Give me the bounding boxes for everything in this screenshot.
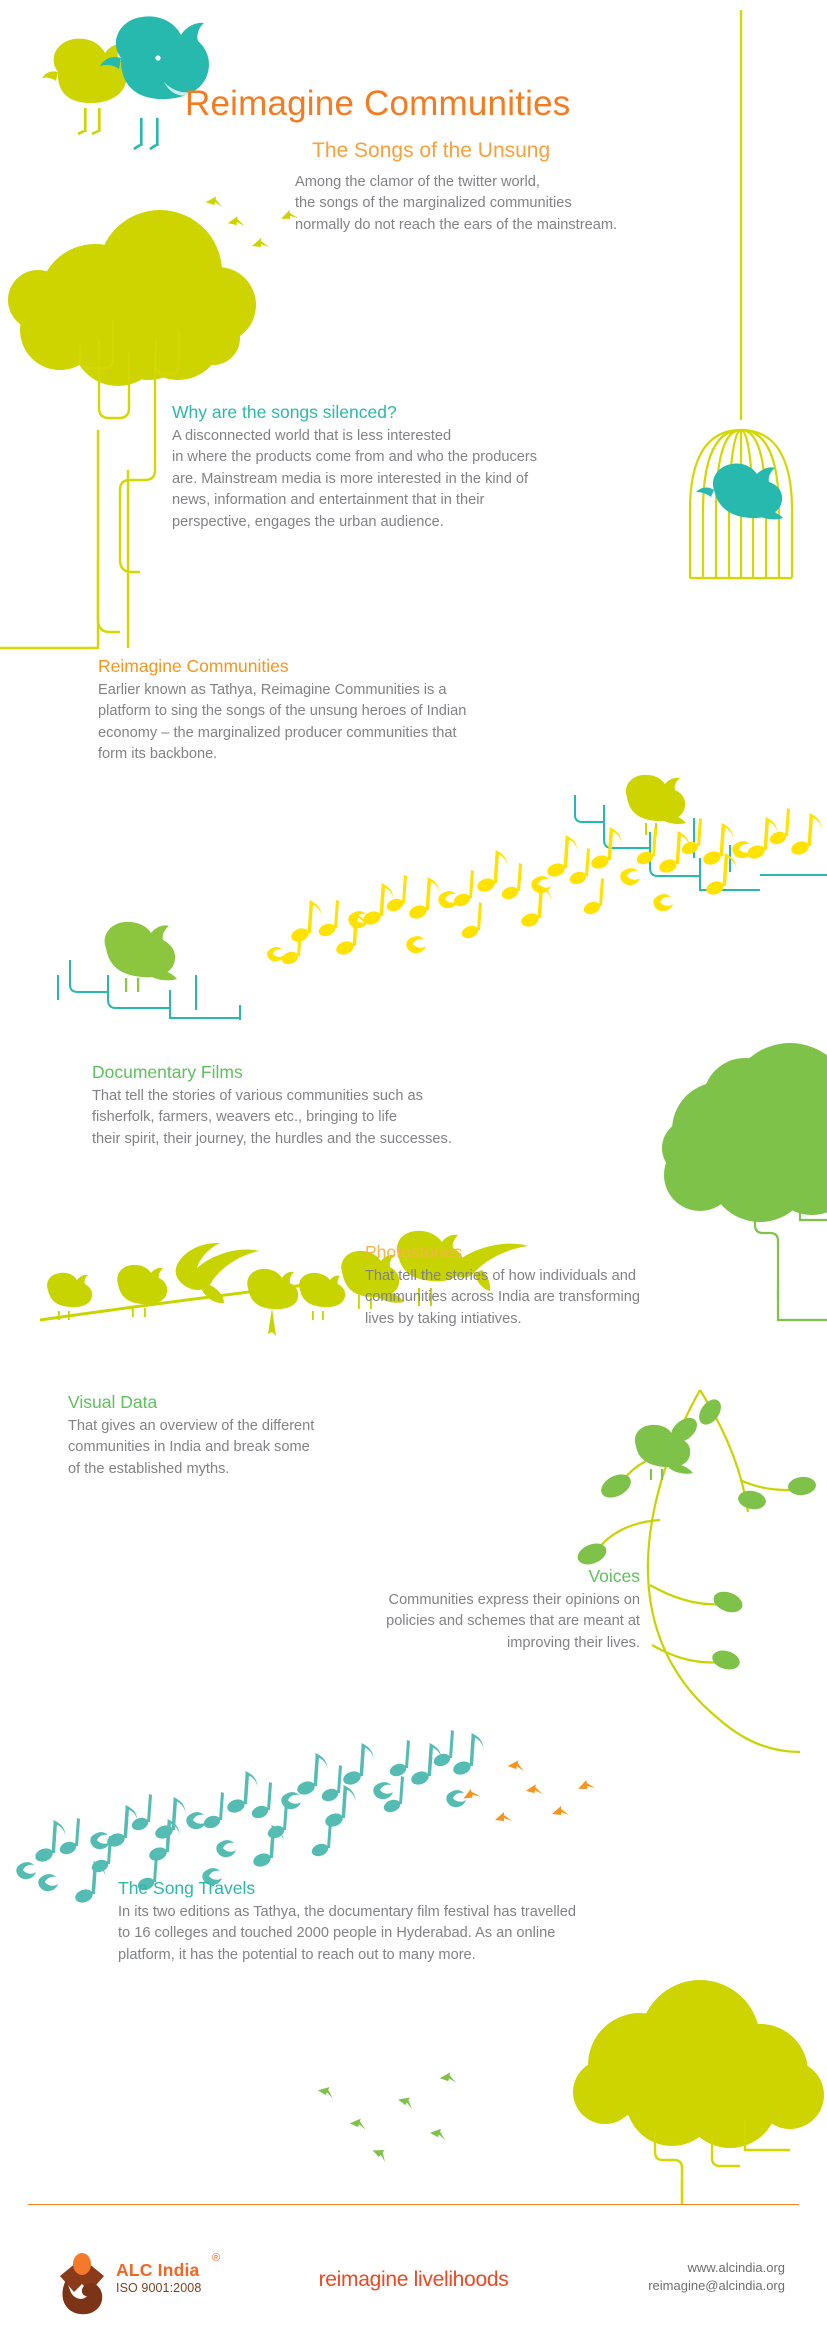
teal-pipe-left [58, 960, 240, 1020]
section-voices: Voices Communities express their opinion… [250, 1566, 640, 1654]
body-line: platform to sing the songs of the unsung… [98, 701, 578, 722]
section-heading: Visual Data [68, 1392, 488, 1414]
flying-birds-lime-icon [164, 194, 298, 254]
body-line: form its backbone. [98, 744, 578, 765]
footer-contact: www.alcindia.org reimagine@alcindia.org [648, 2259, 785, 2295]
body-line: fisherfolk, farmers, weavers etc., bring… [92, 1107, 572, 1128]
teal-bird-icon [100, 16, 209, 149]
section-heading: Why are the songs silenced? [172, 402, 632, 424]
registered-trademark-icon: ® [212, 2252, 220, 2264]
flying-birds-orange-icon [462, 1758, 595, 1821]
body-line: That gives an overview of the different [68, 1416, 488, 1437]
decorative-illustration-layer [0, 0, 827, 2335]
section-heading: Photostories [365, 1242, 805, 1264]
body-line: in where the products come from and who … [172, 447, 632, 468]
flying-birds-green-icon [317, 2070, 458, 2162]
section-visual-data: Visual Data That gives an overview of th… [68, 1392, 488, 1480]
body-line: improving their lives. [250, 1633, 640, 1654]
intro-line: normally do not reach the ears of the ma… [295, 215, 815, 236]
body-line: That tell the stories of how individuals… [365, 1266, 805, 1287]
body-line: Communities express their opinions on [250, 1590, 640, 1611]
lime-bird-on-pipe-icon [626, 775, 686, 835]
body-line: platform, it has the potential to reach … [118, 1945, 758, 1966]
body-line: lives by taking intiatives. [365, 1309, 805, 1330]
intro-paragraph: Among the clamor of the twitter world, t… [295, 172, 815, 236]
yellow-music-notes-icon [267, 808, 821, 966]
section-body: That gives an overview of the different … [68, 1416, 488, 1480]
section-body: Earlier known as Tathya, Reimagine Commu… [98, 680, 578, 766]
body-line: of the established myths. [68, 1459, 488, 1480]
body-line: Earlier known as Tathya, Reimagine Commu… [98, 680, 578, 701]
lime-bottom-tree-icon [573, 1980, 824, 2205]
green-bird-on-branch-icon [635, 1425, 693, 1480]
page-subtitle: The Songs of the Unsung [312, 138, 550, 163]
section-why-silenced: Why are the songs silenced? A disconnect… [172, 402, 632, 533]
section-heading: Documentary Films [92, 1062, 572, 1084]
body-line: policies and schemes that are meant at [250, 1611, 640, 1632]
body-line: news, information and entertainment that… [172, 490, 632, 511]
section-body: That tell the stories of how individuals… [365, 1266, 805, 1330]
body-line: communities in India and break some [68, 1437, 488, 1458]
caged-teal-bird-icon [690, 430, 792, 578]
green-bird-on-pipe-icon [105, 922, 177, 992]
section-heading: Reimagine Communities [98, 656, 578, 678]
section-song-travels: The Song Travels In its two editions as … [118, 1878, 758, 1966]
body-line: their spirit, their journey, the hurdles… [92, 1129, 572, 1150]
teal-pipe-right [575, 795, 827, 890]
section-reimagine-communities: Reimagine Communities Earlier known as T… [98, 656, 578, 766]
page-title: Reimagine Communities [185, 85, 570, 124]
intro-line: Among the clamor of the twitter world, [295, 172, 815, 193]
footer-email-link[interactable]: reimagine@alcindia.org [648, 2277, 785, 2295]
lime-bird-icon [42, 39, 127, 134]
body-line: communities across India are transformin… [365, 1287, 805, 1308]
body-line: to 16 colleges and touched 2000 people i… [118, 1923, 758, 1944]
section-body: A disconnected world that is less intere… [172, 426, 632, 533]
section-body: In its two editions as Tathya, the docum… [118, 1902, 758, 1966]
body-line: A disconnected world that is less intere… [172, 426, 632, 447]
body-line: economy – the marginalized producer comm… [98, 723, 578, 744]
body-line: That tell the stories of various communi… [92, 1086, 572, 1107]
intro-line: the songs of the marginalized communitie… [295, 193, 815, 214]
infographic-page: Reimagine Communities The Songs of the U… [0, 0, 827, 2335]
section-documentary-films: Documentary Films That tell the stories … [92, 1062, 572, 1150]
section-photostories: Photostories That tell the stories of ho… [365, 1242, 805, 1330]
footer-website-link[interactable]: www.alcindia.org [648, 2259, 785, 2277]
section-heading: Voices [250, 1566, 640, 1588]
section-body: That tell the stories of various communi… [92, 1086, 572, 1150]
footer-divider [28, 2204, 799, 2205]
body-line: are. Mainstream media is more interested… [172, 469, 632, 490]
section-heading: The Song Travels [118, 1878, 758, 1900]
body-line: perspective, engages the urban audience. [172, 512, 632, 533]
body-line: In its two editions as Tathya, the docum… [118, 1902, 758, 1923]
section-body: Communities express their opinions on po… [250, 1590, 640, 1654]
